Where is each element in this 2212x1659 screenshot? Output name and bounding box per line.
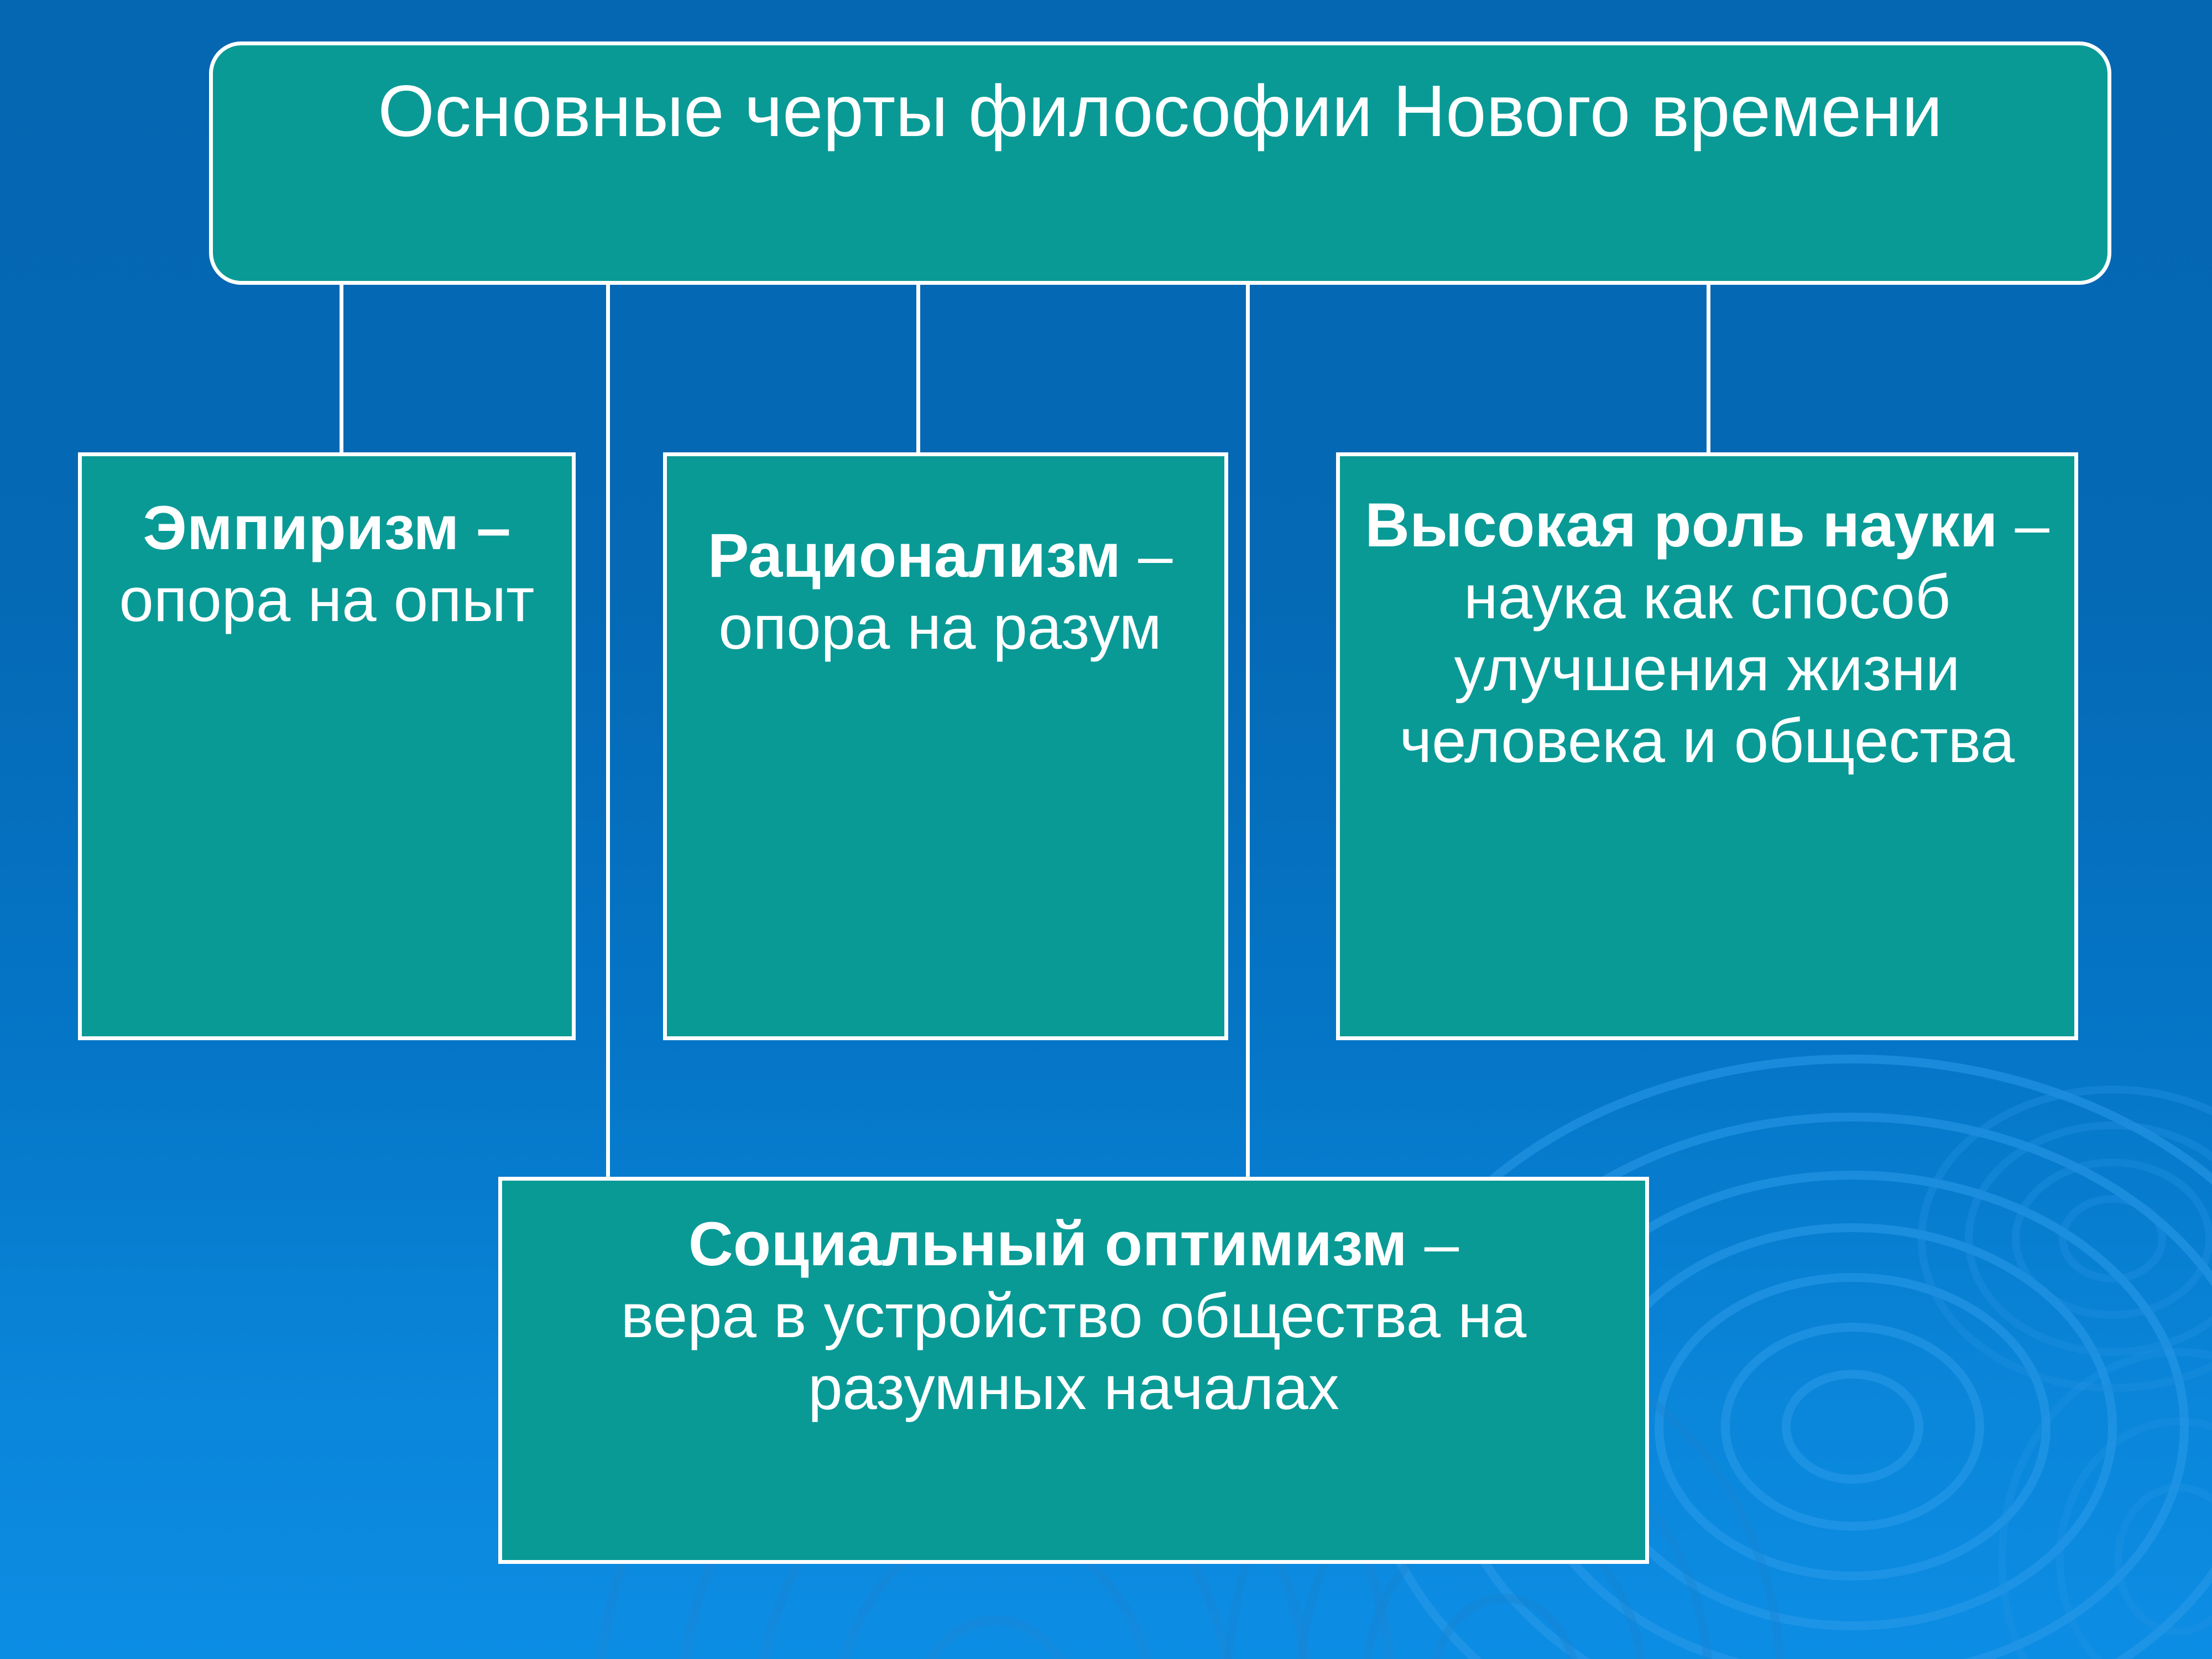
node-empiricism-dash: – [459, 493, 510, 562]
connector-title-to-optimism-left [606, 285, 610, 1179]
node-empiricism-term: Эмпиризм [143, 493, 459, 562]
node-science-dash: – [1997, 491, 2049, 560]
slide-canvas: Основные черты философии Нового времени … [0, 0, 2212, 1659]
node-empiricism: Эмпиризм – опора на опыт [78, 452, 576, 1040]
node-rationalism-text: Рационализм – опора на разум [656, 456, 1224, 664]
connector-title-to-empiricism [340, 285, 343, 453]
node-empiricism-definition: опора на опыт [119, 565, 535, 634]
node-science-definition: наука как способ улучшения жизни человек… [1400, 562, 2015, 775]
node-rationalism-dash: – [1121, 521, 1172, 590]
node-optimism-term: Социальный оптимизм [688, 1209, 1407, 1279]
node-empiricism-text: Эмпиризм – опора на опыт [82, 456, 572, 636]
diagram-title-text: Основные черты философии Нового времени [213, 45, 2107, 153]
diagram-title-box: Основные черты философии Нового времени [209, 41, 2111, 285]
node-optimism: Социальный оптимизм – вера в устройство … [498, 1177, 1649, 1564]
node-optimism-dash: – [1407, 1209, 1459, 1279]
node-optimism-definition: вера в устройство общества на разумных н… [621, 1281, 1527, 1422]
connector-title-to-rationalism [916, 285, 920, 453]
node-rationalism-term: Рационализм [708, 521, 1121, 590]
node-rationalism: Рационализм – опора на разум [663, 452, 1228, 1040]
node-science: Высокая роль науки – наука как способ ул… [1336, 452, 2078, 1040]
node-science-text: Высокая роль науки – наука как способ ул… [1340, 456, 2074, 777]
node-rationalism-definition: опора на разум [718, 593, 1161, 662]
node-science-term: Высокая роль науки [1365, 491, 1997, 560]
connector-title-to-optimism-right [1246, 285, 1250, 1179]
connector-title-to-science [1707, 285, 1710, 453]
node-optimism-text: Социальный оптимизм – вера в устройство … [502, 1181, 1645, 1424]
